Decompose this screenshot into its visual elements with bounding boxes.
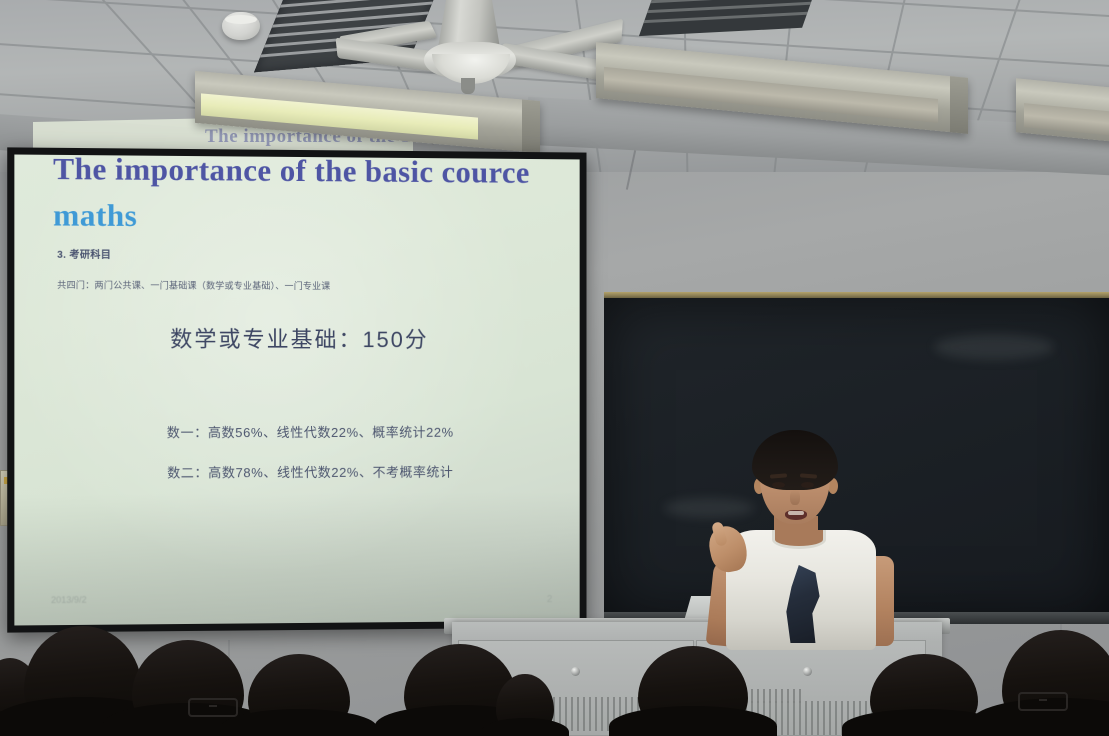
projection-screen[interactable]: The importance of the basic cource maths… [7,147,586,632]
ceiling-fan-icon [360,0,600,98]
presenter-collar [772,530,826,549]
slide-main-statement: 数学或专业基础：150分 [14,321,579,354]
presenter-hair [752,430,838,490]
slide-title-line-2: maths [53,197,137,234]
presenter [690,430,900,640]
smoke-detector-icon [222,12,260,40]
slide-detail-line-2: 数二：高数78%、线性代数22%、不考概率统计 [14,461,579,482]
slide-page-number: 2 [547,594,552,605]
presenter-nose [790,490,800,505]
presenter-mouth [785,510,807,520]
slide-bullet-heading: 3. 考研科目 [57,246,111,261]
student-head-6 [496,674,554,736]
slide-bullet-text: 共四门：两门公共课、一门基础课（数学或专业基础）、一门专业课 [57,278,330,292]
presenter-eye [801,482,814,488]
presenter-eye [772,482,785,488]
slide-footer-date: 2013/9/2 [51,595,87,605]
podium-lock-icon[interactable] [571,667,580,676]
eyeglasses-icon [1018,692,1068,711]
eyeglasses-icon [188,698,238,717]
slide-title-line-1: The importance of the basic cource [53,155,572,192]
projected-slide: The importance of the basic cource maths… [14,155,579,626]
podium-lock-icon[interactable] [803,667,812,676]
classroom-photo: The importance of the basic cource The i… [0,0,1109,736]
slide-detail-line-1: 数一：高数56%、线性代数22%、概率统计22% [14,422,579,442]
